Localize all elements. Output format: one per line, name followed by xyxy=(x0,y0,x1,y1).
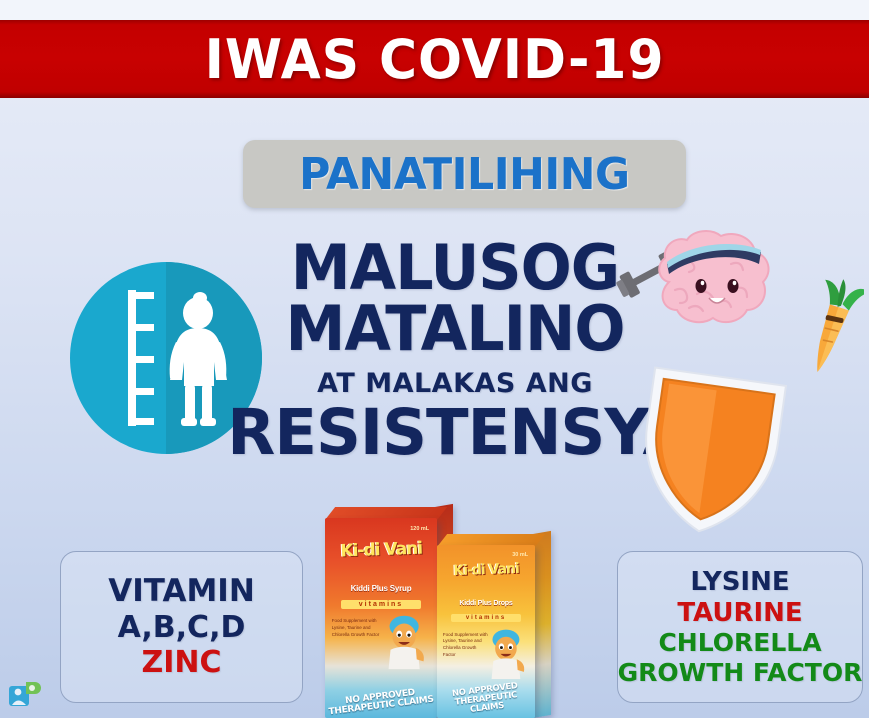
product-volume: 30 mL xyxy=(512,552,528,558)
headline-subline: AT MALAKAS ANG xyxy=(225,368,685,399)
cartoon-boy-mascot xyxy=(479,614,533,690)
cartoon-boy-mascot xyxy=(375,598,433,682)
product-claims: NO APPROVED THERAPEUTIC CLAIMS xyxy=(326,687,435,718)
panel-line: LYSINE xyxy=(690,567,789,598)
carrot-svg xyxy=(798,278,864,382)
plate-label: PANATILIHING xyxy=(299,149,629,200)
panel-line: ZINC xyxy=(141,645,221,680)
brain-with-headband-icon xyxy=(645,228,775,348)
banner-title: IWAS COVID-19 xyxy=(205,28,665,91)
product-brand: Ki-di Vani xyxy=(443,561,530,580)
product-claims: NO APPROVED THERAPEUTIC CLAIMS xyxy=(438,680,535,718)
product-box-syrup: 120 mL Ki-di Vani Kiddi Plus Syrup vitam… xyxy=(325,518,437,718)
box-side-panel xyxy=(533,531,551,718)
headline-malusog: MALUSOG xyxy=(232,238,678,299)
box-front-panel: 30 mL Ki-di Vani Kiddi Plus Drops vitami… xyxy=(437,545,535,718)
shield-icon xyxy=(630,360,790,545)
product-box-drops: 30 mL Ki-di Vani Kiddi Plus Drops vitami… xyxy=(437,545,535,718)
panel-line: GROWTH FACTOR xyxy=(618,658,863,688)
panel-line: A,B,C,D xyxy=(118,610,246,645)
product-brand: Ki-di Vani xyxy=(331,538,430,561)
poster-canvas: IWAS COVID-19 PANATILIHING xyxy=(0,0,869,718)
panel-line: CHLORELLA xyxy=(658,628,821,658)
header-banner: IWAS COVID-19 xyxy=(0,20,869,98)
top-strip xyxy=(0,0,869,20)
nutrients-panel: LYSINE TAURINE CHLORELLA GROWTH FACTOR xyxy=(617,551,863,703)
box-front-panel: 120 mL Ki-di Vani Kiddi Plus Syrup vitam… xyxy=(325,518,437,718)
headline-resistensya: RESISTENSYA xyxy=(227,401,682,465)
shield-svg xyxy=(630,360,790,545)
panatilihing-plate: PANATILIHING xyxy=(243,140,686,208)
headline-matalino: MATALINO xyxy=(232,299,678,360)
company-logo-watermark xyxy=(6,676,46,710)
carrot-icon xyxy=(798,278,864,382)
vitamins-panel: VITAMIN A,B,C,D ZINC xyxy=(60,551,303,703)
product-subtitle: Kiddi Plus Drops xyxy=(441,600,531,607)
brain-svg xyxy=(645,228,775,348)
panel-line: VITAMIN xyxy=(108,573,255,610)
product-volume: 120 mL xyxy=(410,526,429,532)
panel-line: TAURINE xyxy=(677,598,802,629)
product-subtitle: Kiddi Plus Syrup xyxy=(329,584,432,593)
